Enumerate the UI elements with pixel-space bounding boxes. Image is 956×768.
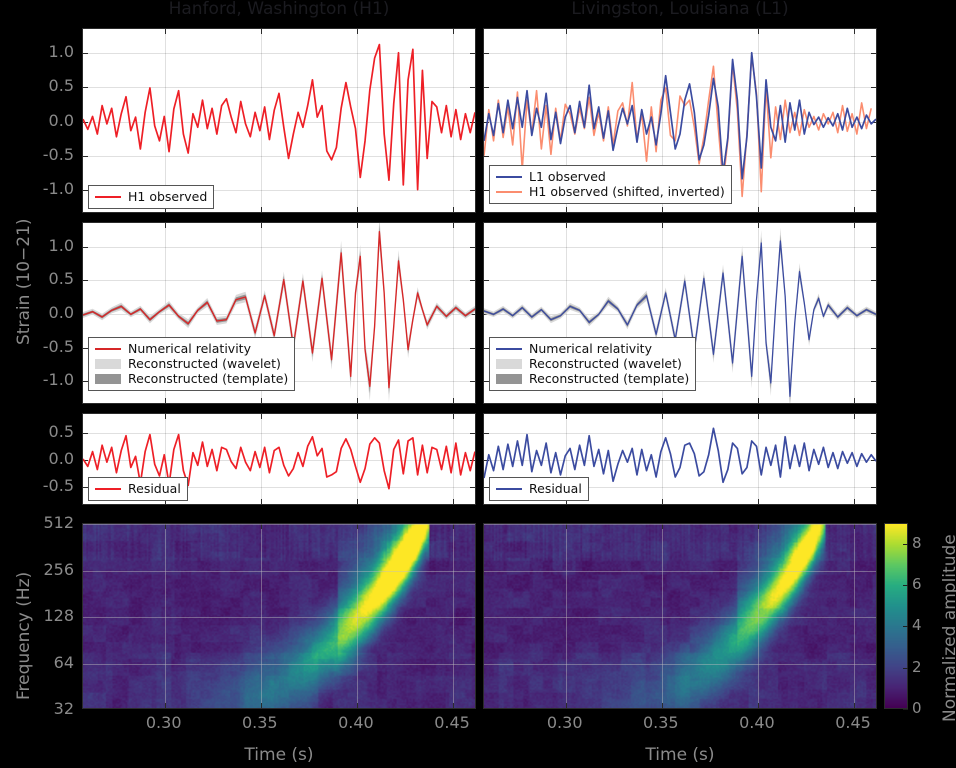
- x-tick-label-0p30: 0.30: [134, 713, 194, 732]
- series-h1-observed: [83, 45, 475, 190]
- y-tick-label-0p0: 0.0: [10, 111, 74, 130]
- column-title-l1: Livingston, Louisiana (L1): [483, 0, 877, 19]
- gridline-horizontal: [484, 571, 876, 572]
- y-tick-label-neg1p0: -1.0: [10, 179, 74, 198]
- gridline-vertical: [758, 524, 759, 708]
- spectrogram-heatmap: [83, 524, 475, 708]
- y-tick-label-0p5: 0.5: [10, 269, 74, 288]
- legend-line-swatch: [95, 348, 121, 350]
- gridline-vertical: [261, 524, 262, 708]
- legend-band-swatch: [496, 374, 522, 384]
- legend-label: Reconstructed (template): [529, 371, 689, 386]
- gridline-horizontal: [484, 617, 876, 618]
- gridline-horizontal: [484, 664, 876, 665]
- y-tick-label-neg0p5: -0.5: [10, 337, 74, 356]
- legend-label: H1 observed (shifted, inverted): [529, 184, 725, 199]
- gridline-vertical: [357, 524, 358, 708]
- colorbar-tick-label-4: 4: [912, 616, 922, 634]
- legend-band-swatch: [95, 374, 121, 384]
- colorbar-label: Normalized amplitude: [940, 534, 956, 722]
- series-l1-observed: [484, 53, 876, 179]
- x-tick-mark: [854, 703, 855, 708]
- legend-r3-h1: Residual: [88, 477, 188, 501]
- legend-label: Residual: [529, 481, 582, 496]
- y-tick-label-freq-32: 32: [10, 699, 74, 718]
- gridline-horizontal: [484, 524, 876, 525]
- colorbar-tick-label-0: 0: [912, 699, 922, 717]
- series-residual: [484, 428, 876, 482]
- legend-band-swatch: [95, 359, 121, 369]
- legend-entry: Residual: [95, 481, 181, 496]
- x-tick-label-0p30: 0.30: [535, 713, 595, 732]
- x-tick-label-0p40: 0.40: [326, 713, 386, 732]
- colorbar-tick-label-2: 2: [912, 658, 922, 676]
- x-tick-mark: [357, 703, 358, 708]
- y-tick-label-neg0p5: -0.5: [10, 145, 74, 164]
- legend-line-swatch: [496, 488, 522, 490]
- y-tick-label-freq-128: 128: [10, 606, 74, 625]
- y-tick-label-neg1p0: -1.0: [10, 370, 74, 389]
- colorbar-tick-mark: [903, 626, 908, 627]
- legend-line-swatch: [95, 196, 121, 198]
- legend-label: Reconstructed (wavelet): [128, 356, 281, 371]
- y-tick-label-neg0p5: -0.5: [10, 476, 74, 495]
- spectrogram-heatmap: [484, 524, 876, 708]
- legend-label: Numerical relativity: [128, 341, 251, 356]
- x-axis-label-right: Time (s): [483, 745, 877, 765]
- x-axis-label-left: Time (s): [82, 745, 476, 765]
- legend-entry: L1 observed: [496, 169, 725, 184]
- colorbar: [884, 523, 908, 709]
- legend-r1-h1: H1 observed: [88, 185, 214, 209]
- colorbar-tick-mark: [903, 668, 908, 669]
- x-tick-mark: [165, 703, 166, 708]
- legend-entry: Reconstructed (template): [95, 371, 288, 386]
- gridline-vertical: [453, 524, 454, 708]
- legend-band-swatch: [496, 359, 522, 369]
- y-tick-label-0p5: 0.5: [10, 76, 74, 95]
- legend-entry: Reconstructed (wavelet): [496, 356, 689, 371]
- plot-panel-r4-h1: [82, 523, 476, 709]
- x-tick-mark: [758, 703, 759, 708]
- y-tick-label-freq-512: 512: [10, 513, 74, 532]
- legend-label: Numerical relativity: [529, 341, 652, 356]
- gridline-vertical: [165, 524, 166, 708]
- x-tick-mark: [662, 703, 663, 708]
- colorbar-tick-label-6: 6: [912, 575, 922, 593]
- gridline-horizontal: [83, 617, 475, 618]
- colorbar-tick-mark: [903, 585, 908, 586]
- gridline-horizontal: [83, 524, 475, 525]
- gridline-horizontal: [83, 664, 475, 665]
- legend-line-swatch: [496, 348, 522, 350]
- x-tick-mark: [261, 703, 262, 708]
- legend-entry: H1 observed: [95, 189, 207, 204]
- y-tick-label-0p0: 0.0: [10, 449, 74, 468]
- legend-label: Reconstructed (wavelet): [529, 356, 682, 371]
- gridline-vertical: [662, 524, 663, 708]
- legend-entry: Numerical relativity: [95, 341, 288, 356]
- legend-entry: Reconstructed (template): [496, 371, 689, 386]
- colorbar-tick-label-8: 8: [912, 534, 922, 552]
- plot-panel-r4-l1: [483, 523, 877, 709]
- x-tick-mark: [453, 703, 454, 708]
- y-tick-label-1p0: 1.0: [10, 236, 74, 255]
- x-tick-label-0p45: 0.45: [823, 713, 883, 732]
- y-tick-label-freq-256: 256: [10, 560, 74, 579]
- y-tick-label-freq-64: 64: [10, 653, 74, 672]
- legend-r2-l1: Numerical relativityReconstructed (wavel…: [489, 337, 696, 391]
- x-tick-label-0p40: 0.40: [727, 713, 787, 732]
- gridline-horizontal: [83, 571, 475, 572]
- legend-r2-h1: Numerical relativityReconstructed (wavel…: [88, 337, 295, 391]
- x-tick-label-0p45: 0.45: [422, 713, 482, 732]
- x-tick-label-0p35: 0.35: [230, 713, 290, 732]
- column-title-h1: Hanford, Washington (H1): [82, 0, 476, 19]
- colorbar-tick-mark: [903, 709, 908, 710]
- figure-root: Hanford, Washington (H1) Livingston, Lou…: [0, 0, 956, 768]
- y-tick-label-0p5: 0.5: [10, 422, 74, 441]
- legend-entry: H1 observed (shifted, inverted): [496, 184, 725, 199]
- legend-label: Reconstructed (template): [128, 371, 288, 386]
- y-tick-label-1p0: 1.0: [10, 42, 74, 61]
- legend-entry: Numerical relativity: [496, 341, 689, 356]
- legend-label: L1 observed: [529, 169, 606, 184]
- legend-entry: Reconstructed (wavelet): [95, 356, 288, 371]
- legend-line-swatch: [95, 488, 121, 490]
- legend-r3-l1: Residual: [489, 477, 589, 501]
- gridline-vertical: [566, 524, 567, 708]
- colorbar-tick-mark: [903, 544, 908, 545]
- legend-entry: Residual: [496, 481, 582, 496]
- y-tick-label-0p0: 0.0: [10, 303, 74, 322]
- legend-label: H1 observed: [128, 189, 207, 204]
- legend-r1-l1: L1 observedH1 observed (shifted, inverte…: [489, 165, 732, 204]
- legend-label: Residual: [128, 481, 181, 496]
- x-tick-label-0p35: 0.35: [631, 713, 691, 732]
- y-axis-label-frequency: Frequency (Hz): [14, 572, 34, 700]
- x-tick-mark: [566, 703, 567, 708]
- legend-line-swatch: [496, 176, 522, 178]
- legend-line-swatch: [496, 191, 522, 193]
- gridline-vertical: [854, 524, 855, 708]
